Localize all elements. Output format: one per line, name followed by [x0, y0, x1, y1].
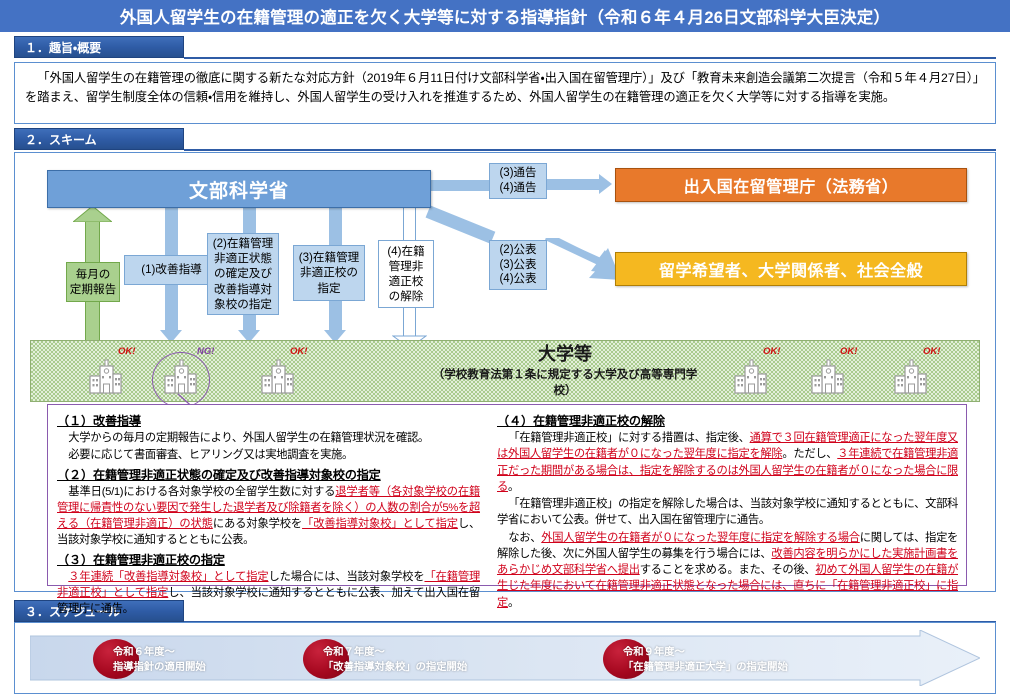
detail-p6-plain1: なお、: [508, 532, 541, 544]
university-title-group: 大学等 （学校教育法第１条に規定する大学及び高等専門学校）: [430, 344, 700, 398]
detail-p3: ３年連続「改善指導対象校」として指定した場合には、当該対象学校を「在籍管理非適正…: [57, 569, 480, 618]
detail-h2: （２）在籍管理非適正状態の確定及び改善指導対象校の指定: [57, 465, 480, 483]
detail-p1b: 必要に応じて書面審査、ヒアリング又は実地調査を実施。: [57, 447, 480, 463]
schedule-label-3: 令和９年度～ 「在籍管理非適正大学」の指定開始: [623, 645, 788, 676]
badge-ok-1: OK!: [118, 346, 135, 357]
step4-box: (4)在籍 管理非 適正校 の解除: [378, 240, 434, 308]
detail-p6-plain3: することを求める。また、その後、: [640, 564, 816, 576]
detail-p4-plain1: 「在籍管理非適正校」に対する措置は、指定後、: [508, 432, 749, 444]
step3-label: (3)在籍管理 非適正校の 指定: [299, 250, 360, 295]
schedule-label-2-line2: 「改善指導対象校」の指定開始: [323, 662, 467, 673]
step2-box: (2)在籍管理 非適正状態 の確定及び 改善指導対 象校の指定: [207, 233, 279, 315]
detail-p2-red2: 「改善指導対象校」として指定: [302, 518, 458, 530]
step3-box: (3)在籍管理 非適正校の 指定: [293, 245, 365, 301]
notify-tag-line1: (3)通告: [499, 166, 536, 181]
detail-p1a: 大学からの毎月の定期報告により、外国人留学生の在籍管理状況を確認。: [57, 430, 480, 446]
university-building-6-icon: [893, 358, 927, 394]
badge-ok-2: OK!: [290, 346, 307, 357]
section-header-purpose-label: １．趣旨・概要: [25, 39, 101, 56]
notify-tag: (3)通告 (4)通告: [489, 163, 547, 199]
notify-connector-left: [429, 180, 489, 191]
publish-tag-line1: (2)公表: [499, 243, 536, 258]
section-header-purpose: １．趣旨・概要: [14, 36, 184, 58]
badge-ok-3: OK!: [763, 346, 780, 357]
monthly-report-text: 毎月の定期報告: [70, 267, 116, 297]
badge-ng: NG!: [197, 346, 214, 357]
public-audience-label: 留学希望者、大学関係者、社会全般: [659, 257, 923, 281]
detail-p4-plain2: 。ただし、: [782, 448, 837, 460]
detail-box: （１）改善指導 大学からの毎月の定期報告により、外国人留学生の在籍管理状況を確認…: [47, 404, 967, 586]
schedule-label-3-line2: 「在籍管理非適正大学」の指定開始: [623, 662, 788, 673]
detail-p4: 「在籍管理非適正校」に対する措置は、指定後、通算で３回在籍管理適正になった翌年度…: [497, 430, 958, 495]
schedule-label-1-line2: 指導指針の適用開始: [113, 662, 206, 673]
slide-title-bar: 外国人留学生の在籍管理の適正を欠く大学等に対する指導指針（令和６年４月26日文部…: [0, 0, 1010, 32]
notify-tag-line2: (4)通告: [499, 181, 536, 196]
detail-p2-plain1: 基準日(5/1)における各対象学校の全留学生数に対する: [68, 486, 335, 498]
publish-tag-line3: (4)公表: [499, 272, 536, 287]
publish-arrow-head-group: [545, 238, 621, 289]
university-title: 大学等: [430, 344, 700, 365]
detail-p3-red1: ３年連続「改善指導対象校」として指定: [68, 571, 268, 583]
step4-label: (4)在籍 管理非 適正校 の解除: [387, 244, 424, 304]
detail-right-column: （４）在籍管理非適正校の解除 「在籍管理非適正校」に対する措置は、指定後、通算で…: [488, 405, 966, 585]
notify-arrow-head: [599, 174, 612, 194]
detail-h3: （３）在籍管理非適正校の指定: [57, 550, 480, 568]
publish-tag: (2)公表 (3)公表 (4)公表: [489, 240, 547, 290]
university-building-1-icon: [88, 358, 122, 394]
schedule-label-3-line1: 令和９年度～: [623, 647, 685, 658]
step2-label: (2)在籍管理 非適正状態 の確定及び 改善指導対 象校の指定: [213, 236, 274, 311]
section-header-scheme: ２．スキーム: [14, 128, 184, 150]
badge-ok-5: OK!: [923, 346, 940, 357]
page-title: 外国人留学生の在籍管理の適正を欠く大学等に対する指導指針（令和６年４月26日文部…: [120, 4, 890, 28]
section-header-scheme-label: ２．スキーム: [25, 131, 97, 148]
schedule-label-2-line1: 令和７年度～: [323, 647, 385, 658]
schedule-label-1-line1: 令和６年度～: [113, 647, 175, 658]
monthly-report-box: 毎月の定期報告: [66, 262, 120, 302]
detail-p4-plain3: 。: [508, 481, 519, 493]
detail-left-column: （１）改善指導 大学からの毎月の定期報告により、外国人留学生の在籍管理状況を確認…: [48, 405, 488, 585]
detail-h1: （１）改善指導: [57, 411, 480, 429]
immigration-agency-box: 出入国在留管理庁（法務省）: [615, 168, 967, 202]
purpose-body-inner: 「外国人留学生の在籍管理の徹底に関する新たな対応方針（2019年６月11日付け文…: [25, 71, 985, 104]
mext-box: 文部科学省: [47, 170, 431, 208]
detail-p3-plain1: した場合には、当該対象学校を: [269, 571, 425, 583]
detail-p6-red1: 外国人留学生の在籍者が０になった翌年度に指定を解除する場合: [541, 532, 860, 544]
notify-connector-right: [547, 179, 599, 190]
university-building-3-icon: [260, 358, 294, 394]
university-building-4-icon: [733, 358, 767, 394]
university-building-5-icon: [810, 358, 844, 394]
purpose-body-box: 「外国人留学生の在籍管理の徹底に関する新たな対応方針（2019年６月11日付け文…: [14, 62, 996, 124]
detail-p5: 「在籍管理非適正校」の指定を解除した場合は、当該対象学校に通知するとともに、文部…: [497, 496, 958, 529]
public-audience-box: 留学希望者、大学関係者、社会全般: [615, 252, 967, 286]
step1-box: (1)改善指導: [124, 255, 219, 285]
purpose-body-text: 「外国人留学生の在籍管理の徹底に関する新たな対応方針（2019年６月11日付け文…: [25, 69, 985, 107]
detail-p2-plain2: にある対象学校を: [213, 518, 302, 530]
schedule-label-1: 令和６年度～ 指導指針の適用開始: [113, 645, 206, 676]
publish-tag-line2: (3)公表: [499, 258, 536, 273]
detail-p2: 基準日(5/1)における各対象学校の全留学生数に対する退学者等（各対象学校の在籍…: [57, 484, 480, 549]
step1-label: (1)改善指導: [141, 262, 202, 277]
slide-root: 外国人留学生の在籍管理の適正を欠く大学等に対する指導指針（令和６年４月26日文部…: [0, 0, 1010, 700]
mext-label: 文部科学省: [189, 176, 289, 203]
schedule-label-2: 令和７年度～ 「改善指導対象校」の指定開始: [323, 645, 467, 676]
university-subtitle: （学校教育法第１条に規定する大学及び高等専門学校）: [430, 366, 700, 398]
monthly-report-arrow-head: [73, 206, 112, 227]
section-rule-2: [184, 149, 996, 151]
immigration-agency-label: 出入国在留管理庁（法務省）: [684, 173, 899, 197]
badge-ok-4: OK!: [840, 346, 857, 357]
detail-p6-plain4: 。: [508, 597, 519, 609]
detail-p6: なお、外国人留学生の在籍者が０になった翌年度に指定を解除する場合に関しては、指定…: [497, 530, 958, 611]
section-rule-1: [184, 57, 996, 59]
detail-h4: （４）在籍管理非適正校の解除: [497, 411, 958, 429]
